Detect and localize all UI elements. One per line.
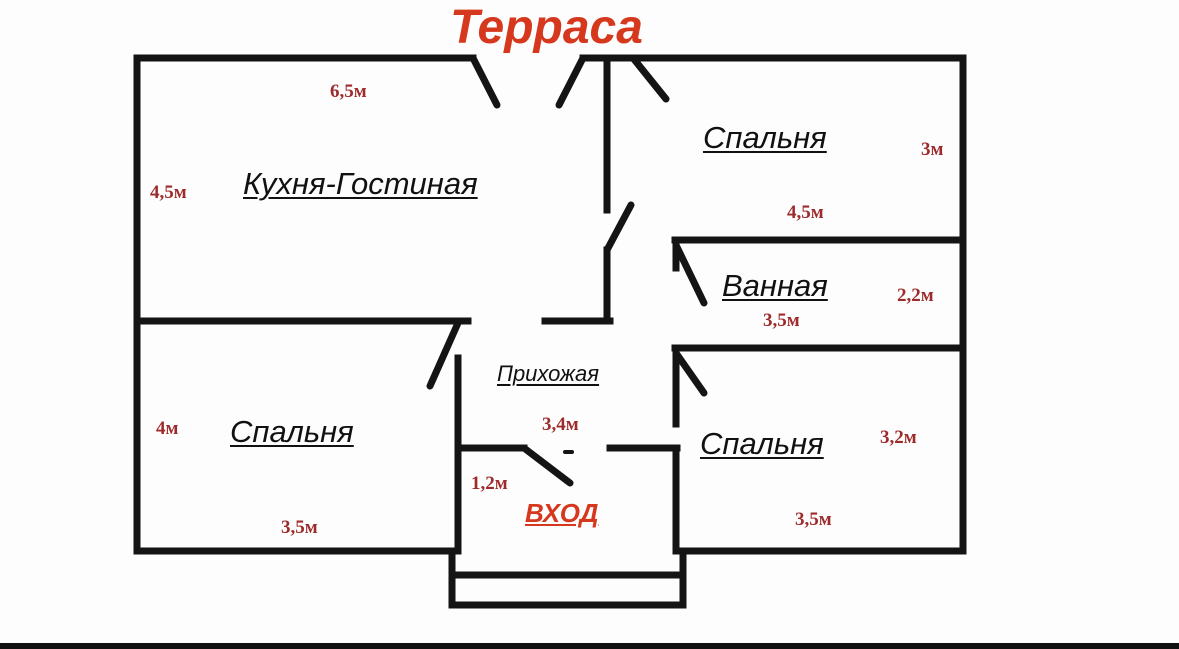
room-label-kitchen-living: Кухня-Гостиная bbox=[243, 168, 478, 199]
dimension-bedroom-top-right-height: 3м bbox=[921, 140, 943, 159]
wall-group-exterior bbox=[137, 58, 963, 551]
terrace-title: Терраса bbox=[450, 4, 643, 52]
door-kitchen-hall bbox=[607, 205, 631, 250]
room-label-bathroom: Ванная bbox=[722, 270, 828, 301]
door-terrace-kitchen bbox=[473, 58, 497, 105]
room-label-bedroom-bottom-left: Спальня bbox=[230, 416, 354, 447]
floor-plan-canvas: Терраса Кухня-Гостиная 6,5м 4,5м Спальня… bbox=[0, 0, 1179, 649]
entrance-label: ВХОД bbox=[525, 500, 598, 526]
room-label-hallway: Прихожая bbox=[497, 363, 599, 385]
room-label-bedroom-bottom-right: Спальня bbox=[700, 428, 824, 459]
dimension-bedroom-bottom-left-width: 3,5м bbox=[281, 518, 318, 537]
door-bedroom-br bbox=[676, 353, 704, 393]
dimension-bedroom-bottom-right-height: 3,2м bbox=[880, 428, 917, 447]
dimension-bathroom-height: 2,2м bbox=[897, 286, 934, 305]
door-terrace-hall-right bbox=[633, 58, 666, 99]
door-bathroom bbox=[676, 245, 704, 303]
door-terrace-hall-left bbox=[559, 58, 583, 105]
dimension-bedroom-top-right-width: 4,5м bbox=[787, 203, 824, 222]
wall-group-interior bbox=[137, 58, 963, 551]
porch-steps bbox=[452, 551, 683, 605]
room-label-bedroom-top-right: Спальня bbox=[703, 122, 827, 153]
floor-plan-drawing bbox=[0, 0, 1179, 649]
dimension-bedroom-bottom-left-height: 4м bbox=[156, 419, 178, 438]
door-entrance bbox=[524, 448, 570, 483]
dimension-entrance-height: 1,2м bbox=[471, 474, 508, 493]
dimension-bathroom-width: 3,5м bbox=[763, 311, 800, 330]
dimension-bedroom-bottom-right-width: 3,5м bbox=[795, 510, 832, 529]
dimension-hallway-width: 3,4м bbox=[542, 415, 579, 434]
dimension-kitchen-height: 4,5м bbox=[150, 183, 187, 202]
dimension-kitchen-width: 6,5м bbox=[330, 82, 367, 101]
door-bedroom-bl bbox=[430, 323, 458, 386]
footer-bar bbox=[0, 643, 1179, 649]
